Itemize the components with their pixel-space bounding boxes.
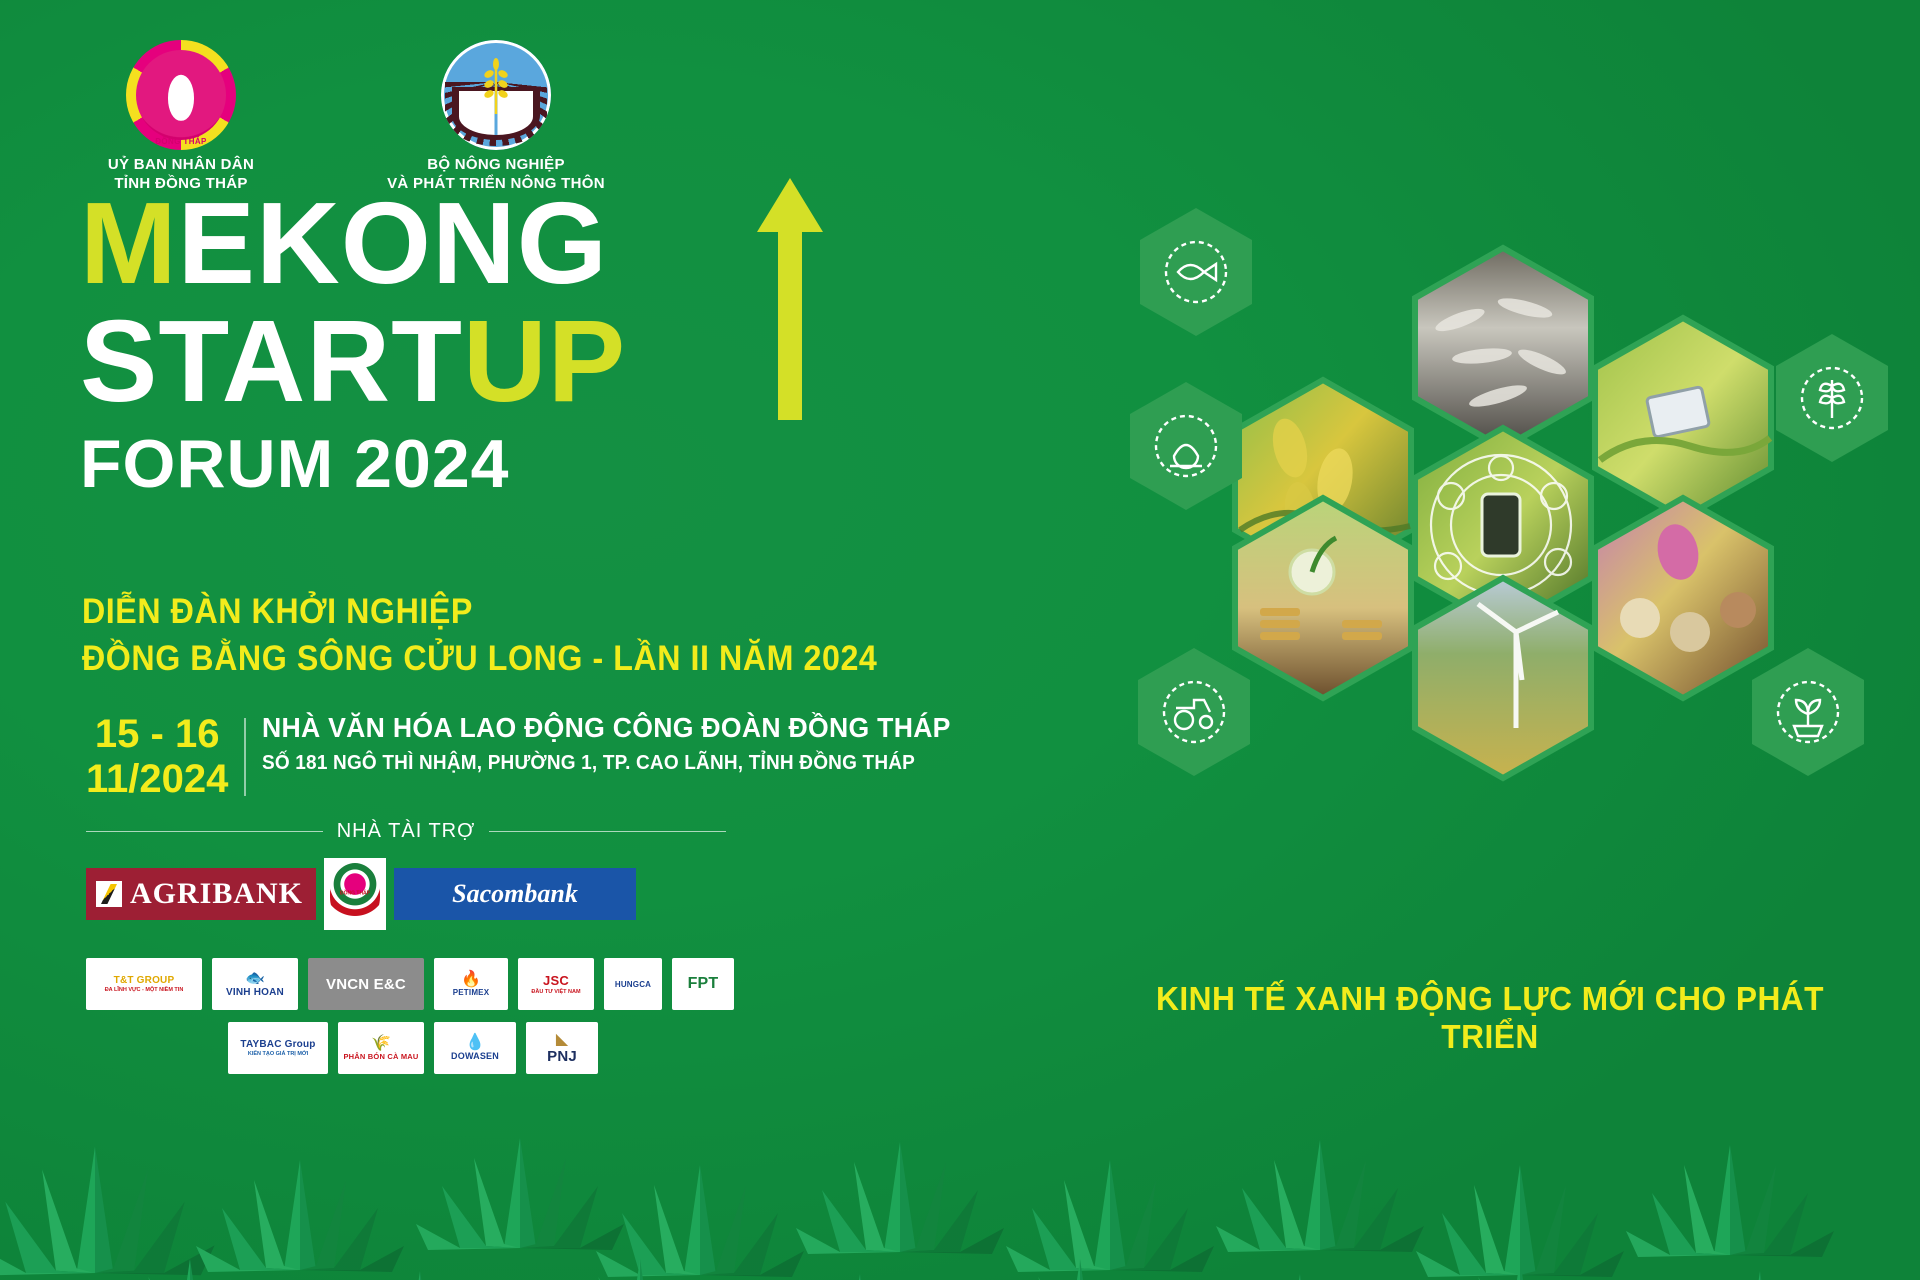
sponsor-vncn-ec-label: VNCN E&C (326, 976, 406, 993)
sponsor-fpt-label: FPT (688, 975, 719, 993)
sponsor-taybac-sub: KIẾN TẠO GIÁ TRỊ MỚI (248, 1051, 308, 1057)
dong-thap-provincial-seal-icon: ĐỒNG THÁP (126, 40, 236, 150)
sponsor-jsc-sub: ĐẦU TƯ VIỆT NAM (531, 989, 580, 995)
seedling-sprout-icon-hex (1752, 648, 1864, 776)
rice-field-tablet-photo (1595, 318, 1771, 518)
sponsor-sacombank-label: Sacombank (452, 879, 578, 909)
flame-logo-icon: 🔥 (461, 972, 481, 988)
organizer-dong-thap-line1: UỶ BAN NHÂN DÂN (86, 156, 276, 175)
sponsor-sacombank[interactable]: Sacombank (394, 868, 636, 920)
pangasius-fish-harvest-photo (1415, 248, 1591, 448)
organizer-ministry-line1: BỘ NÔNG NGHIỆP (376, 156, 616, 175)
title-rest-start: START (80, 296, 463, 426)
sponsor-tt-group-label: T&T GROUP (114, 975, 175, 986)
agribank-mark-icon (96, 881, 122, 907)
sponsor-petimex[interactable]: 🔥 PETIMEX (434, 958, 508, 1010)
title-line-mekong: MEKONG (80, 190, 1000, 298)
wheat-ear-icon (481, 58, 511, 116)
sponsor-vinh-hoan-label: VINH HOAN (226, 987, 284, 998)
wind-turbine-field-photo (1415, 578, 1591, 778)
sponsor-dong-thap[interactable] (324, 858, 386, 930)
sponsor-jsc[interactable]: JSC ĐẦU TƯ VIỆT NAM (518, 958, 594, 1010)
seal-word-dong-thap: ĐỒNG THÁP (126, 137, 236, 146)
details-divider (244, 718, 246, 796)
sponsor-hungca-label: HUNGCA (615, 980, 651, 989)
event-details: 15 - 16 11/2024 NHÀ VĂN HÓA LAO ĐỘNG CÔN… (86, 712, 987, 802)
sponsor-taybac[interactable]: TAYBAC Group KIẾN TẠO GIÁ TRỊ MỚI (228, 1022, 328, 1074)
event-date-day: 15 - 16 (86, 712, 228, 757)
sponsor-vinh-hoan[interactable]: 🐟 VINH HOAN (212, 958, 298, 1010)
sponsor-dowasen-label: DOWASEN (451, 1051, 499, 1061)
pnj-mark-icon: ◣ (556, 1032, 568, 1048)
lotus-products-photo (1595, 498, 1771, 698)
sponsor-agribank[interactable]: AGRIBANK (86, 868, 316, 920)
wheat-circle-logo-icon: 🌾 (371, 1036, 391, 1052)
sponsor-fpt[interactable]: FPT (672, 958, 734, 1010)
event-date-month-year: 11/2024 (86, 757, 228, 802)
sponsor-phan-bon-ca-mau[interactable]: 🌾 PHÂN BÓN CÀ MAU (338, 1022, 424, 1074)
sponsor-tt-group-sub: ĐA LĨNH VỰC - MỘT NIỀM TIN (105, 987, 184, 993)
sponsor-vncn-ec[interactable]: VNCN E&C (308, 958, 424, 1010)
sponsors-rule-right (489, 831, 726, 832)
water-drop-fertilizer-icon-hex (1130, 382, 1242, 510)
ministry-of-agriculture-seal-icon (441, 40, 551, 150)
title-line-forum: FORUM 2024 (80, 430, 1000, 498)
water-drop-logo-icon: 💧 (465, 1035, 485, 1051)
subtitle-line-1: DIỄN ĐÀN KHỞI NGHIỆP (82, 588, 877, 635)
sponsor-row-3: TAYBAC Group KIẾN TẠO GIÁ TRỊ MỚI 🌾 PHÂN… (228, 1022, 598, 1074)
tagline: KINH TẾ XANH ĐỘNG LỰC MỚI CHO PHÁT TRIỂN (1135, 980, 1845, 1056)
sponsors-heading-label: NHÀ TÀI TRỢ (337, 820, 476, 843)
sponsor-pnj-label: PNJ (547, 1048, 577, 1065)
organizer-dong-thap: ĐỒNG THÁP UỶ BAN NHÂN DÂN TỈNH ĐỒNG THÁP (86, 40, 276, 194)
subtitle-line-2: ĐỒNG BẰNG SÔNG CỬU LONG - LẦN II NĂM 202… (82, 635, 877, 682)
title-accent-up: UP (463, 296, 626, 426)
sponsor-phan-bon-ca-mau-label: PHÂN BÓN CÀ MAU (343, 1052, 418, 1061)
sponsor-row-2: T&T GROUP ĐA LĨNH VỰC - MỘT NIỀM TIN 🐟 V… (86, 958, 734, 1010)
event-address: SỐ 181 NGÔ THÌ NHẬM, PHƯỜNG 1, TP. CAO L… (262, 752, 951, 775)
sponsor-hungca[interactable]: HUNGCA (604, 958, 662, 1010)
wheat-ear-icon-hex (1776, 334, 1888, 462)
title-accent-m: M (80, 178, 178, 308)
fish-icon-hex (1140, 208, 1252, 336)
sponsor-jsc-label: JSC (543, 973, 569, 988)
main-title: MEKONG STARTUP FORUM 2024 (80, 190, 1000, 498)
sponsor-petimex-label: PETIMEX (453, 988, 490, 997)
sponsor-agribank-label: AGRIBANK (130, 877, 303, 911)
event-date: 15 - 16 11/2024 (86, 712, 244, 802)
organizer-ministry: BỘ NÔNG NGHIỆP VÀ PHÁT TRIỂN NÔNG THÔN (376, 40, 616, 194)
sponsor-tt-group[interactable]: T&T GROUP ĐA LĨNH VỰC - MỘT NIỀM TIN (86, 958, 202, 1010)
fish-logo-icon: 🐟 (245, 971, 265, 987)
tractor-icon-hex (1138, 648, 1250, 776)
event-venue: NHÀ VĂN HÓA LAO ĐỘNG CÔNG ĐOÀN ĐỒNG THÁP (262, 712, 951, 744)
title-rest-ekong: EKONG (178, 178, 608, 308)
hexagon-grid (1130, 180, 1890, 840)
sponsors-rule-left (86, 831, 323, 832)
primary-sponsors: AGRIBANK Sacombank (86, 868, 636, 930)
sponsor-pnj[interactable]: ◣ PNJ (526, 1022, 598, 1074)
sponsor-taybac-label: TAYBAC Group (240, 1039, 315, 1050)
dong-thap-emblem-icon (330, 863, 380, 925)
vietnamese-subtitle: DIỄN ĐÀN KHỞI NGHIỆP ĐỒNG BẰNG SÔNG CỬU … (82, 588, 947, 683)
organizer-logos: ĐỒNG THÁP UỶ BAN NHÂN DÂN TỈNH ĐỒNG THÁP (86, 40, 616, 194)
poster-root: ĐỒNG THÁP UỶ BAN NHÂN DÂN TỈNH ĐỒNG THÁP (0, 0, 1920, 1280)
sponsor-dowasen[interactable]: 💧 DOWASEN (434, 1022, 516, 1074)
hexagon-photo-cluster (1130, 180, 1890, 820)
title-line-startup: STARTUP (80, 306, 1000, 416)
sponsors-heading: NHÀ TÀI TRỢ (86, 820, 726, 843)
